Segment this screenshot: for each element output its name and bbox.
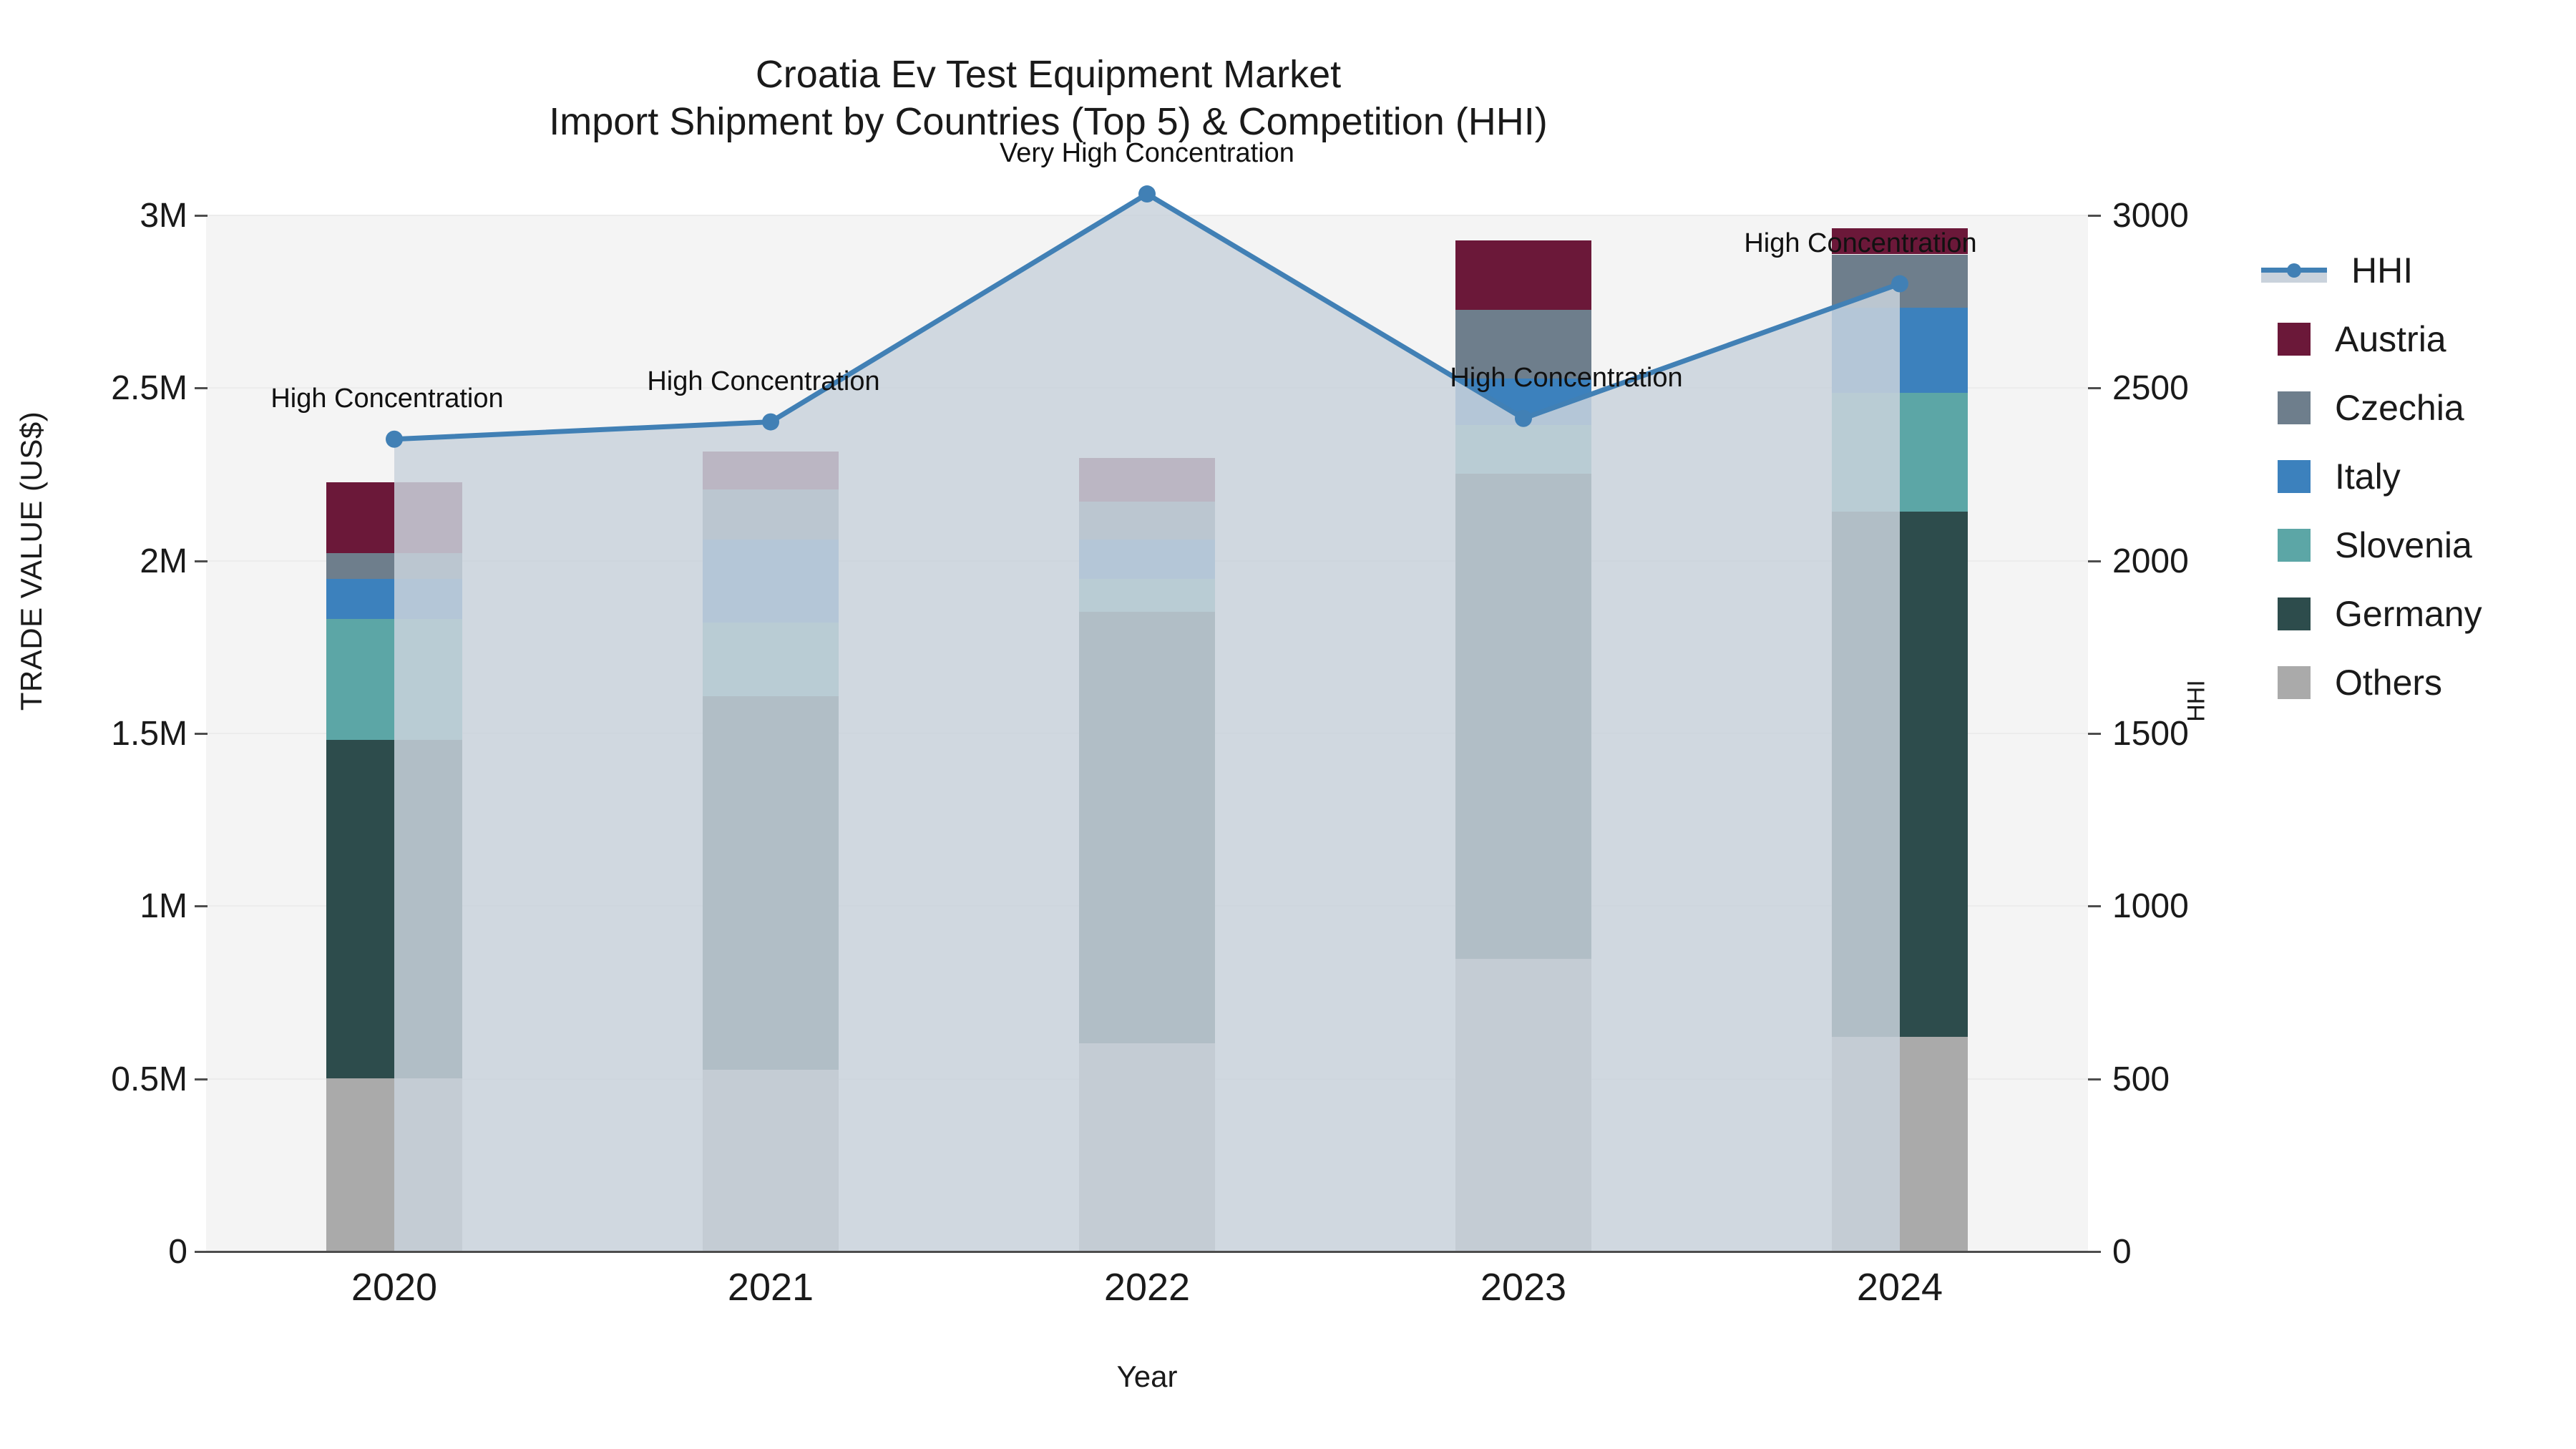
legend-item-austria[interactable]: Austria bbox=[2261, 305, 2576, 374]
legend-swatch-icon bbox=[2278, 597, 2311, 630]
bar-segment-austria[interactable] bbox=[326, 482, 462, 553]
bar-segment-italy[interactable] bbox=[703, 540, 839, 623]
bar-segment-germany[interactable] bbox=[703, 696, 839, 1069]
bar-segment-slovenia[interactable] bbox=[326, 619, 462, 740]
y-axis-left-tickmark bbox=[195, 1078, 208, 1080]
bar-segment-others[interactable] bbox=[326, 1078, 462, 1251]
x-axis-tick-2023: 2023 bbox=[1402, 1265, 1645, 1309]
y-axis-left-tickmark bbox=[195, 1251, 208, 1253]
bar-segment-austria[interactable] bbox=[703, 452, 839, 489]
bar-segment-czechia[interactable] bbox=[326, 553, 462, 579]
y-axis-right-tick: 1500 bbox=[2112, 714, 2327, 753]
hhi-annotation-2022: Very High Concentration bbox=[1000, 138, 1294, 169]
legend-item-italy[interactable]: Italy bbox=[2261, 442, 2576, 511]
hhi-annotation-2024: High Concentration bbox=[1744, 228, 1976, 259]
legend-item-hhi[interactable]: HHI bbox=[2261, 236, 2576, 305]
y-axis-left-tickmark bbox=[195, 905, 208, 907]
legend-item-label: Slovenia bbox=[2335, 527, 2472, 563]
y-axis-left-tickmark bbox=[195, 387, 208, 389]
y-axis-right-tickmark bbox=[2088, 387, 2101, 389]
bar-segment-slovenia[interactable] bbox=[1832, 393, 1968, 512]
hhi-annotation-2023: High Concentration bbox=[1450, 363, 1682, 394]
page-title: Croatia Ev Test Equipment Market Import … bbox=[0, 52, 2097, 146]
y-axis-left-tick: 0 bbox=[0, 1232, 187, 1272]
chart-title-line-1: Croatia Ev Test Equipment Market bbox=[0, 52, 2097, 99]
legend-item-label: HHI bbox=[2351, 253, 2413, 288]
bar-segment-germany[interactable] bbox=[1832, 512, 1968, 1037]
bar-segment-czechia[interactable] bbox=[1079, 502, 1215, 540]
legend-swatch-icon bbox=[2278, 391, 2311, 424]
y-axis-left-tick: 0.5M bbox=[0, 1060, 187, 1099]
bar-segment-slovenia[interactable] bbox=[703, 623, 839, 697]
legend-item-label: Italy bbox=[2335, 459, 2401, 494]
legend-line-icon bbox=[2261, 254, 2327, 287]
x-axis-tick-2021: 2021 bbox=[649, 1265, 892, 1309]
chart-figure: Croatia Ev Test Equipment Market Import … bbox=[0, 0, 2576, 1449]
bar-segment-italy[interactable] bbox=[1832, 308, 1968, 392]
bar-segment-austria[interactable] bbox=[1079, 458, 1215, 501]
legend-swatch-icon bbox=[2278, 323, 2311, 356]
bar-segment-others[interactable] bbox=[1832, 1037, 1968, 1251]
x-axis-label: Year bbox=[206, 1360, 2088, 1394]
x-axis-tick-2024: 2024 bbox=[1778, 1265, 2021, 1309]
bar-segment-others[interactable] bbox=[703, 1070, 839, 1251]
chart-legend: HHIAustriaCzechiaItalySloveniaGermanyOth… bbox=[2261, 236, 2576, 717]
legend-item-label: Germany bbox=[2335, 596, 2482, 632]
y-axis-left-tickmark bbox=[195, 733, 208, 735]
y-axis-left-tickmark bbox=[195, 560, 208, 562]
y-axis-right-tick: 3000 bbox=[2112, 196, 2327, 235]
legend-item-label: Others bbox=[2335, 665, 2442, 701]
bar-segment-slovenia[interactable] bbox=[1455, 425, 1591, 474]
legend-swatch-icon bbox=[2278, 529, 2311, 562]
bar-segment-czechia[interactable] bbox=[703, 489, 839, 540]
bar-segment-italy[interactable] bbox=[326, 579, 462, 619]
bar-segment-germany[interactable] bbox=[1455, 474, 1591, 959]
y-axis-right-tickmark bbox=[2088, 1251, 2101, 1253]
y-axis-right-tickmark bbox=[2088, 215, 2101, 217]
y-axis-right-tickmark bbox=[2088, 560, 2101, 562]
hhi-point-marker[interactable] bbox=[1138, 185, 1156, 203]
bar-segment-others[interactable] bbox=[1455, 959, 1591, 1251]
bar-segment-others[interactable] bbox=[1079, 1043, 1215, 1251]
legend-item-label: Austria bbox=[2335, 321, 2446, 357]
legend-item-czechia[interactable]: Czechia bbox=[2261, 374, 2576, 442]
hhi-annotation-2021: High Concentration bbox=[647, 366, 879, 397]
x-axis-tick-2022: 2022 bbox=[1025, 1265, 1269, 1309]
y-axis-right-tick: 1000 bbox=[2112, 887, 2327, 926]
y-axis-left-tickmark bbox=[195, 215, 208, 217]
legend-swatch-icon bbox=[2278, 666, 2311, 699]
y-axis-right-tickmark bbox=[2088, 905, 2101, 907]
bar-segment-slovenia[interactable] bbox=[1079, 579, 1215, 612]
bar-segment-germany[interactable] bbox=[1079, 612, 1215, 1043]
y-axis-right-tick: 0 bbox=[2112, 1232, 2327, 1272]
legend-item-others[interactable]: Others bbox=[2261, 648, 2576, 717]
y-axis-right-tick: 500 bbox=[2112, 1060, 2327, 1099]
y-axis-right-tickmark bbox=[2088, 733, 2101, 735]
bar-segment-austria[interactable] bbox=[1455, 240, 1591, 310]
gridline-secondary bbox=[206, 215, 2088, 216]
legend-item-germany[interactable]: Germany bbox=[2261, 580, 2576, 648]
bar-segment-germany[interactable] bbox=[326, 740, 462, 1078]
legend-item-slovenia[interactable]: Slovenia bbox=[2261, 511, 2576, 580]
y-axis-left-label: TRADE VALUE (US$) bbox=[14, 203, 49, 919]
x-axis-tick-2020: 2020 bbox=[273, 1265, 516, 1309]
y-axis-right-label: HHI bbox=[2183, 558, 2211, 844]
legend-item-label: Czechia bbox=[2335, 390, 2464, 426]
x-axis-line bbox=[202, 1251, 2092, 1253]
bar-segment-czechia[interactable] bbox=[1832, 255, 1968, 308]
legend-swatch-icon bbox=[2278, 460, 2311, 493]
y-axis-right-tickmark bbox=[2088, 1078, 2101, 1080]
hhi-annotation-2020: High Concentration bbox=[270, 384, 503, 414]
bar-segment-italy[interactable] bbox=[1079, 540, 1215, 580]
